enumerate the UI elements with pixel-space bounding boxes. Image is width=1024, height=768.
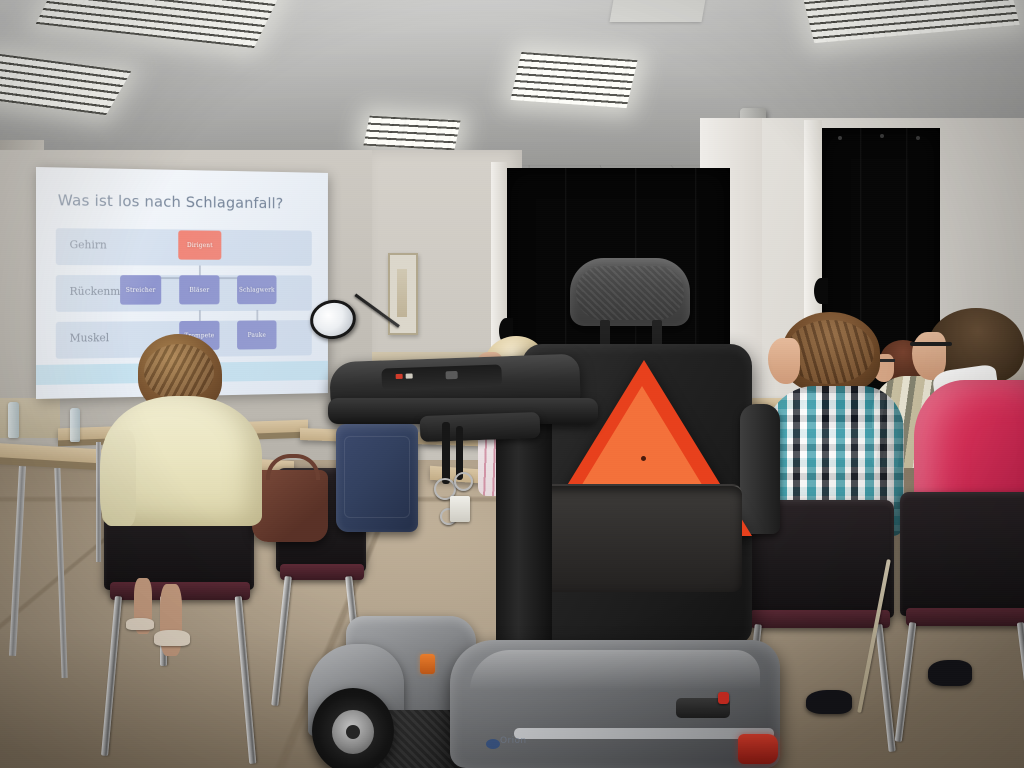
- sandal: [126, 618, 154, 630]
- scooter-red-button[interactable]: [718, 692, 729, 704]
- slide-node-pauke: Pauke: [237, 320, 276, 349]
- ceiling-light-fixture: [363, 116, 460, 151]
- scooter-brand-text: Orion: [500, 736, 620, 754]
- slide-node-schlagwerk: Schlagwerk: [237, 275, 276, 304]
- ceiling-light-fixture: [510, 52, 637, 108]
- water-bottle: [70, 408, 80, 442]
- shoe: [806, 690, 852, 714]
- sandal: [154, 630, 190, 646]
- indicator-led-white: [406, 373, 413, 378]
- scooter-brand-emblem: [486, 739, 500, 749]
- glasses-icon: [910, 342, 952, 346]
- slide-node-blaeser: Bläser: [179, 275, 219, 304]
- key-tag: [450, 496, 470, 522]
- shoe: [928, 660, 972, 686]
- scooter-body-highlight: [470, 650, 760, 690]
- slide-title: Was ist los nach Schlaganfall?: [58, 191, 284, 212]
- scooter-storage-bag: [336, 424, 418, 532]
- face: [768, 338, 800, 384]
- scooter-keys: [428, 422, 472, 534]
- indicator-led-red: [396, 374, 403, 379]
- scooter-tail-light: [738, 734, 778, 764]
- slide-node-streicher: Streicher: [120, 275, 161, 305]
- ceiling-vent: [610, 0, 707, 22]
- scooter-headrest: [570, 258, 690, 326]
- key-ring-icon: [454, 472, 473, 491]
- mobility-scooter: Orion: [300, 258, 770, 768]
- scooter-seat-pocket: [536, 484, 742, 592]
- chair: [900, 492, 1024, 616]
- scooter-wheel-hub: [332, 710, 374, 754]
- scooter-seat-column: [496, 408, 552, 658]
- slide-row-label: Gehirn: [70, 238, 107, 251]
- photo-scene: Was ist los nach Schlaganfall? Gehirn Rü…: [0, 0, 1024, 768]
- slide-node-dirigent: Dirigent: [178, 230, 221, 259]
- warning-triangle-screw: [641, 456, 646, 461]
- scooter-side-reflector: [420, 654, 435, 674]
- control-knob[interactable]: [446, 371, 458, 379]
- water-bottle: [8, 402, 19, 438]
- arm: [100, 430, 136, 526]
- slide-row-label: Muskel: [70, 331, 110, 344]
